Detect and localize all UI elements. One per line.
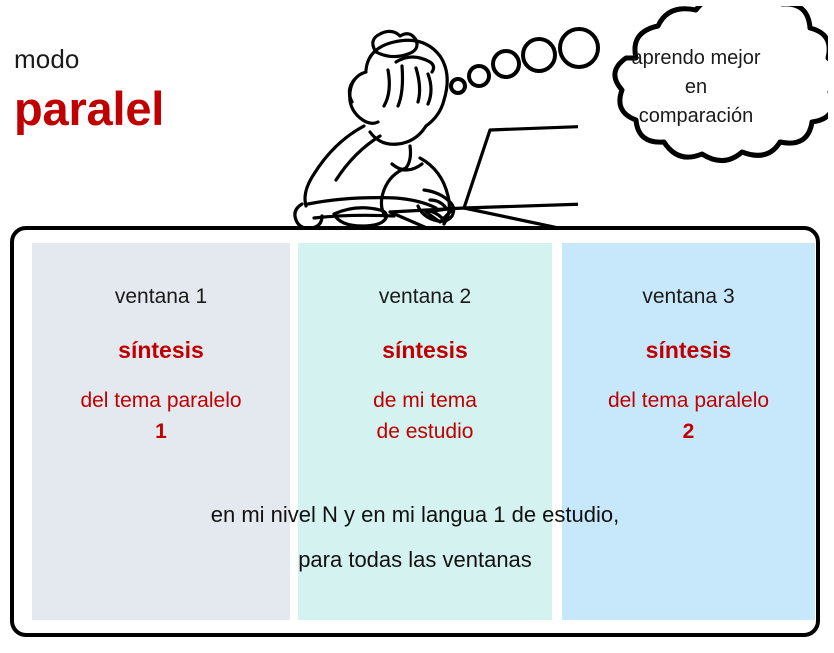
window-3-title: ventana 3 — [562, 284, 815, 309]
window-3-description: del tema paralelo 2 — [562, 385, 815, 447]
cloud-line-3: comparación — [639, 105, 754, 127]
window-2-desc-line-2: de estudio — [377, 420, 474, 443]
cloud-line-1: aprendo mejor — [632, 47, 761, 69]
window-1-desc-line-1: del tema paralelo — [80, 389, 241, 412]
cloud-line-2: en — [685, 76, 707, 98]
window-1-desc-line-2: 1 — [155, 420, 167, 443]
panel-footer-note: en mi nivel N y en mi langua 1 de estudi… — [10, 492, 820, 582]
window-3-desc-line-1: del tema paralelo — [608, 389, 769, 412]
window-2-title: ventana 2 — [298, 284, 552, 309]
window-1-sintesis: síntesis — [32, 337, 290, 364]
window-1-description: del tema paralelo 1 — [32, 385, 290, 447]
thought-cloud-text: aprendo mejor en comparación — [596, 44, 796, 131]
window-2-sintesis: síntesis — [298, 337, 552, 364]
window-3-sintesis: síntesis — [562, 337, 815, 364]
window-1-title: ventana 1 — [32, 284, 290, 309]
window-2-description: de mi tema de estudio — [298, 385, 552, 447]
window-2-desc-line-1: de mi tema — [373, 389, 477, 412]
window-3-desc-line-2: 2 — [683, 420, 695, 443]
footer-line-1: en mi nivel N y en mi langua 1 de estudi… — [10, 492, 820, 537]
footer-line-2: para todas las ventanas — [10, 537, 820, 582]
